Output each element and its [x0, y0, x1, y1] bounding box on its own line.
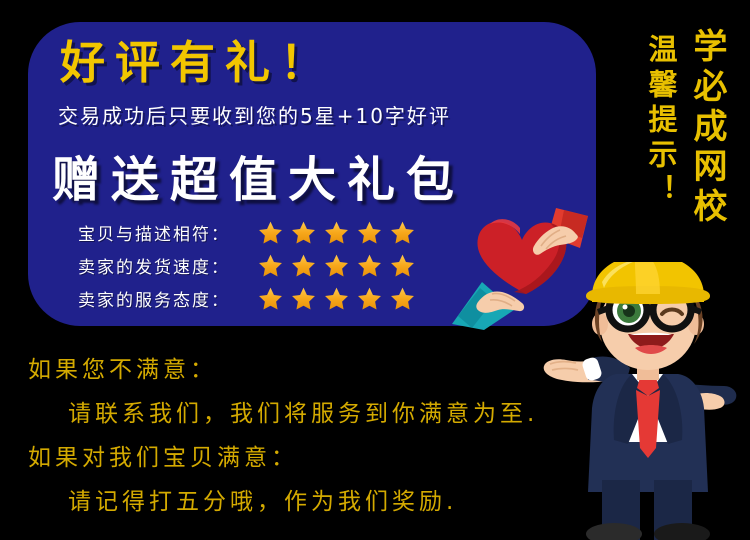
star-icon: [357, 286, 382, 311]
star-icon: [390, 220, 415, 245]
engineer-mascot-icon: [540, 262, 750, 540]
star-icon: [258, 286, 283, 311]
star-icon: [258, 220, 283, 245]
gift-text: 赠送超值大礼包: [52, 140, 465, 210]
rating-label: 卖家的发货速度：: [78, 253, 254, 278]
rating-list: 宝贝与描述相符： 卖家的发货速度： 卖家的服务态度：: [78, 218, 415, 317]
vertical-text-tip: 温馨提示！: [640, 34, 682, 209]
star-rating: [258, 253, 415, 278]
page-title: 好评有礼！: [60, 26, 335, 91]
rating-label: 宝贝与描述相符：: [78, 220, 254, 245]
vertical-text-school: 学必成网校: [683, 28, 732, 228]
rating-row: 宝贝与描述相符：: [78, 218, 415, 246]
star-icon: [291, 253, 316, 278]
rating-label: 卖家的服务态度：: [78, 286, 254, 311]
star-icon: [357, 253, 382, 278]
star-icon: [357, 220, 382, 245]
promo-banner: 好评有礼！ 交易成功后只要收到您的5星+10字好评 赠送超值大礼包 宝贝与描述相…: [0, 0, 750, 540]
star-icon: [324, 286, 349, 311]
star-rating: [258, 286, 415, 311]
star-icon: [390, 286, 415, 311]
rating-row: 卖家的发货速度：: [78, 251, 415, 279]
star-icon: [324, 253, 349, 278]
subtitle-text: 交易成功后只要收到您的5星+10字好评: [58, 100, 451, 129]
star-icon: [258, 253, 283, 278]
star-rating: [258, 220, 415, 245]
star-icon: [390, 253, 415, 278]
star-icon: [291, 220, 316, 245]
rating-row: 卖家的服务态度：: [78, 284, 415, 312]
star-icon: [324, 220, 349, 245]
star-icon: [291, 286, 316, 311]
